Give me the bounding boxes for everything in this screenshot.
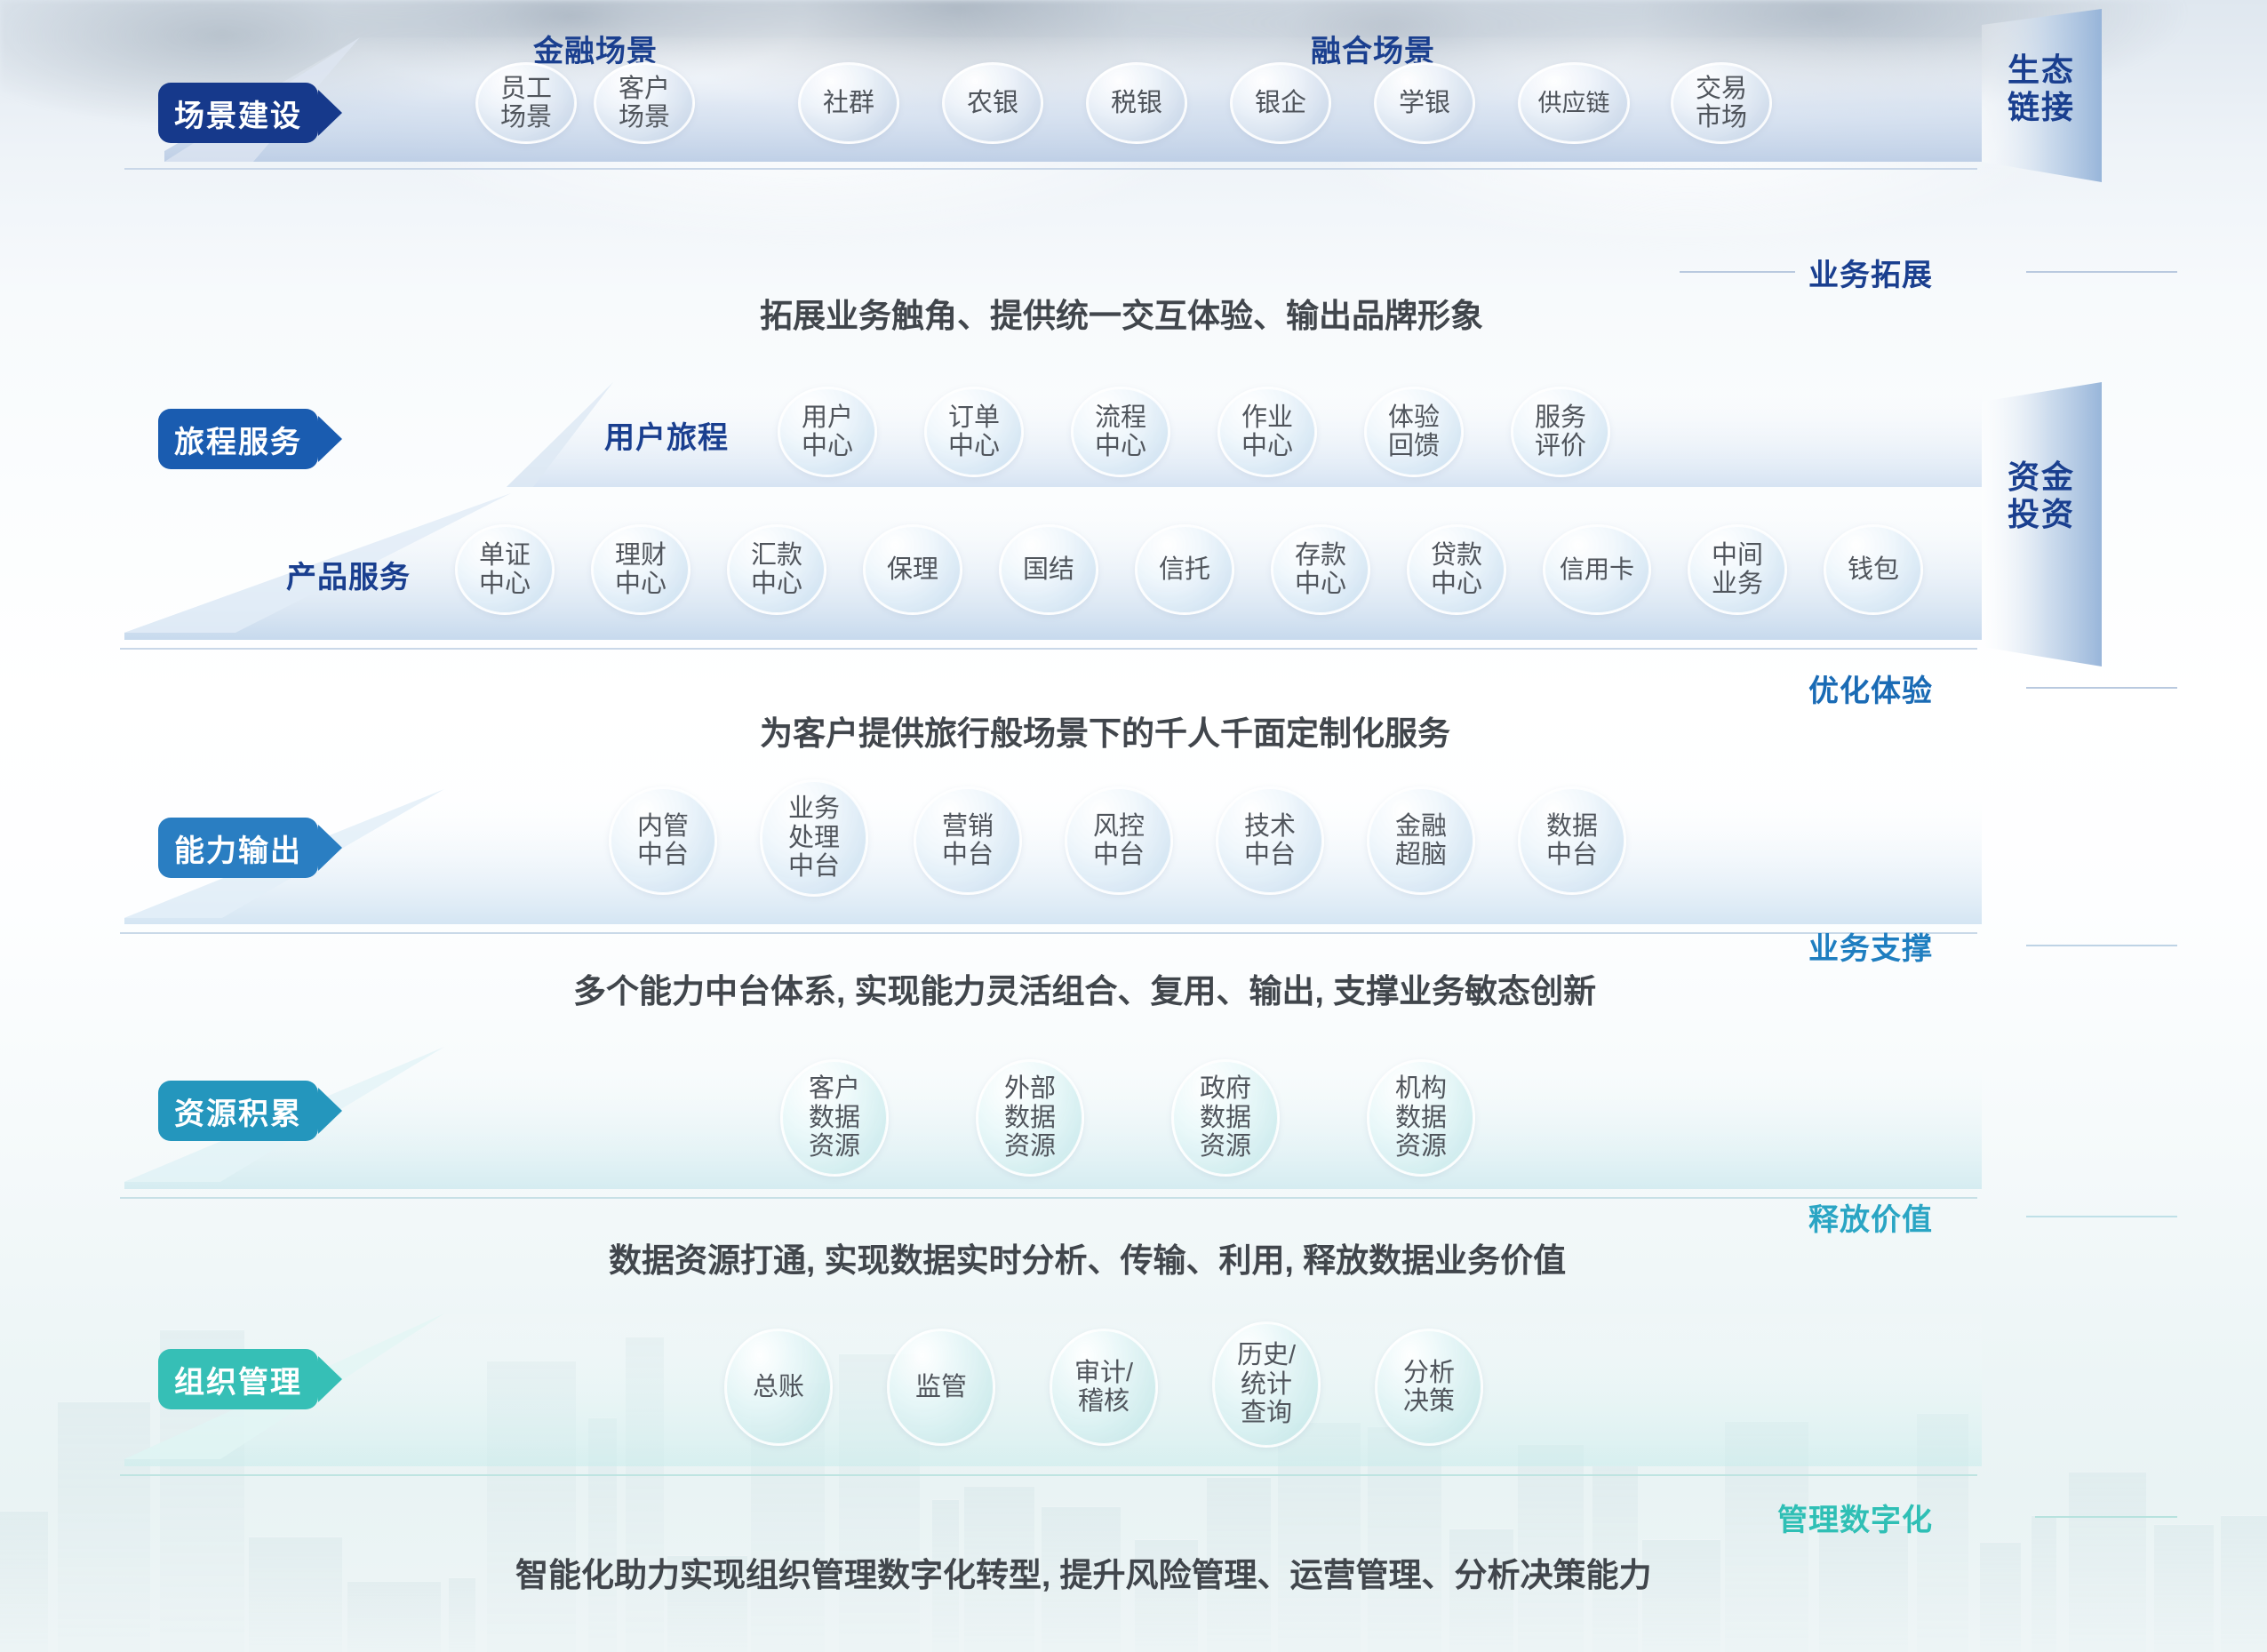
building-silhouette [2154,1524,2214,1652]
building-silhouette [1980,1542,2021,1652]
product-bubble-loan-center[interactable]: 贷款 中心 [1407,524,1506,615]
building-silhouette [1278,1422,1361,1652]
building-silhouette [1819,1525,1908,1652]
product-bubble-wealth-center[interactable]: 理财 中心 [591,524,690,615]
capability-bubble-financial-brain[interactable]: 金融 超脑 [1367,786,1475,895]
journey-bubble-experience-feedback[interactable]: 体验 回馈 [1364,387,1464,477]
journey-bubble-process-center[interactable]: 流程 中心 [1071,387,1170,477]
building-silhouette [449,1577,475,1652]
band-line-management-digitalization-right [2035,1516,2177,1518]
product-bubble-document-center[interactable]: 单证 中心 [455,524,555,615]
scene-bubble-community[interactable]: 社群 [798,62,899,144]
tab-arrow-icon [318,1356,342,1402]
tier-tab-journey[interactable]: 旅程服务 [158,409,318,469]
resource-bubble-institution-data[interactable]: 机构 数据 资源 [1367,1059,1475,1177]
ribbon-label: 生态 链接 [1966,52,2117,127]
tier-tab-label: 场景建设 [174,92,302,135]
tier-tab-label: 旅程服务 [174,418,302,461]
tier-tab-label: 能力输出 [174,826,302,870]
tab-arrow-icon [318,825,342,871]
architecture-diagram: 场景建设 金融场景 融合场景 员工 场景 客户 场景 社群 农银 税银 银企 学… [0,0,2267,1652]
product-bubble-trust[interactable]: 信托 [1135,524,1234,615]
capability-bubble-marketing[interactable]: 营销 中台 [914,786,1022,895]
capability-bubble-data[interactable]: 数据 中台 [1518,786,1626,895]
journey-bubble-operation-center[interactable]: 作业 中心 [1217,387,1317,477]
ribbon-label: 资金 投资 [1966,459,2117,534]
tier-description-capability: 多个能力中台体系, 实现能力灵活组合、复用、输出, 支撑业务敏态创新 [573,964,1596,1012]
tier-description-resource: 数据资源打通, 实现数据实时分析、传输、利用, 释放数据业务价值 [609,1233,1566,1281]
building-silhouette [2032,1515,2056,1652]
tab-arrow-icon [318,1088,342,1134]
org-bubble-supervision[interactable]: 监管 [887,1329,995,1446]
building-silhouette [626,1337,664,1652]
band-label-management-digitalization: 管理数字化 [1777,1496,1933,1539]
product-bubble-factoring[interactable]: 保理 [863,524,962,615]
product-bubble-intermediary-business[interactable]: 中间 业务 [1688,524,1787,615]
group-caption-product-service: 产品服务 [286,553,411,596]
group-caption-user-journey: 用户旅程 [604,413,729,457]
resource-bubble-external-data[interactable]: 外部 数据 资源 [976,1059,1084,1177]
product-bubble-remittance-center[interactable]: 汇款 中心 [727,524,826,615]
scene-bubble-tax-bank[interactable]: 税银 [1086,62,1187,144]
tier-description-journey: 为客户提供旅行般场景下的千人千面定制化服务 [760,706,1450,754]
product-bubble-deposit-center[interactable]: 存款 中心 [1271,524,1370,615]
journey-bubble-service-evaluation[interactable]: 服务 评价 [1511,387,1610,477]
building-silhouette [347,1581,441,1652]
scene-bubble-employee[interactable]: 员工 场景 [475,62,577,144]
tier-tab-label: 组织管理 [174,1358,302,1401]
product-bubble-intl-settlement[interactable]: 国结 [999,524,1098,615]
scene-bubble-supply-chain[interactable]: 供应链 [1518,62,1630,144]
band-line-optimize-experience-right [2026,687,2177,689]
journey-bubble-user-center[interactable]: 用户 中心 [778,387,877,477]
ribbon-fund-investment: 资金 投资 [1982,382,2159,666]
building-silhouette [1368,1426,1441,1652]
building-silhouette [0,1511,48,1652]
tier-shape-organization [116,1313,1982,1491]
org-bubble-audit[interactable]: 审计/ 稽核 [1050,1329,1158,1446]
scene-bubble-customer[interactable]: 客户 场景 [594,62,695,144]
building-silhouette [2069,1472,2146,1652]
building-silhouette [2221,1515,2267,1652]
capability-bubble-technology[interactable]: 技术 中台 [1216,786,1324,895]
org-bubble-history-statistics[interactable]: 历史/ 统计 查询 [1212,1321,1321,1448]
band-line-business-support-right [2026,945,2177,946]
resource-bubble-customer-data[interactable]: 客户 数据 资源 [780,1059,889,1177]
band-line-release-value-right [2026,1216,2177,1217]
band-label-business-support: 业务支撑 [1808,924,1933,968]
tier-shape-capability [116,789,1982,949]
scene-bubble-bank-enterprise[interactable]: 银企 [1230,62,1331,144]
tier-tab-scene[interactable]: 场景建设 [158,83,318,143]
capability-bubble-internal-mgmt[interactable]: 内管 中台 [609,786,717,895]
org-bubble-analysis-decision[interactable]: 分析 决策 [1375,1329,1483,1446]
tier-description-organization: 智能化助力实现组织管理数字化转型, 提升风险管理、运营管理、分析决策能力 [515,1548,1652,1596]
ribbon-ecosystem-link: 生态 链接 [1982,9,2159,182]
building-silhouette [58,1401,150,1652]
product-bubble-wallet[interactable]: 钱包 [1824,524,1923,615]
resource-bubble-government-data[interactable]: 政府 数据 资源 [1171,1059,1280,1177]
building-silhouette [249,1536,342,1652]
tier-tab-resource[interactable]: 资源积累 [158,1081,318,1141]
building-silhouette [1642,1539,1720,1652]
tier-tab-capability[interactable]: 能力输出 [158,818,318,878]
capability-bubble-risk-control[interactable]: 风控 中台 [1065,786,1173,895]
building-silhouette [487,1361,576,1652]
scene-bubble-school-bank[interactable]: 学银 [1374,62,1475,144]
tab-arrow-icon [318,90,342,136]
org-bubble-general-ledger[interactable]: 总账 [724,1329,833,1446]
tier-description-scene: 拓展业务触角、提供统一交互体验、输出品牌形象 [760,289,1483,337]
journey-bubble-order-center[interactable]: 订单 中心 [924,387,1024,477]
band-label-business-expansion: 业务拓展 [1808,251,1933,294]
capability-bubble-business-processing[interactable]: 业务 处理 中台 [760,779,868,897]
band-label-optimize-experience: 优化体验 [1808,666,1933,710]
scene-bubble-trading-market[interactable]: 交易 市场 [1671,62,1772,144]
band-line-business-expansion [1680,271,1795,273]
building-silhouette [588,1417,617,1652]
scene-bubble-agri-bank[interactable]: 农银 [942,62,1043,144]
band-line-business-expansion-right [2026,271,2177,273]
product-bubble-credit-card[interactable]: 信用卡 [1543,524,1651,615]
tab-arrow-icon [318,416,342,462]
tier-tab-organization[interactable]: 组织管理 [158,1349,318,1409]
tier-tab-label: 资源积累 [174,1089,302,1133]
band-label-release-value: 释放价值 [1808,1195,1933,1239]
